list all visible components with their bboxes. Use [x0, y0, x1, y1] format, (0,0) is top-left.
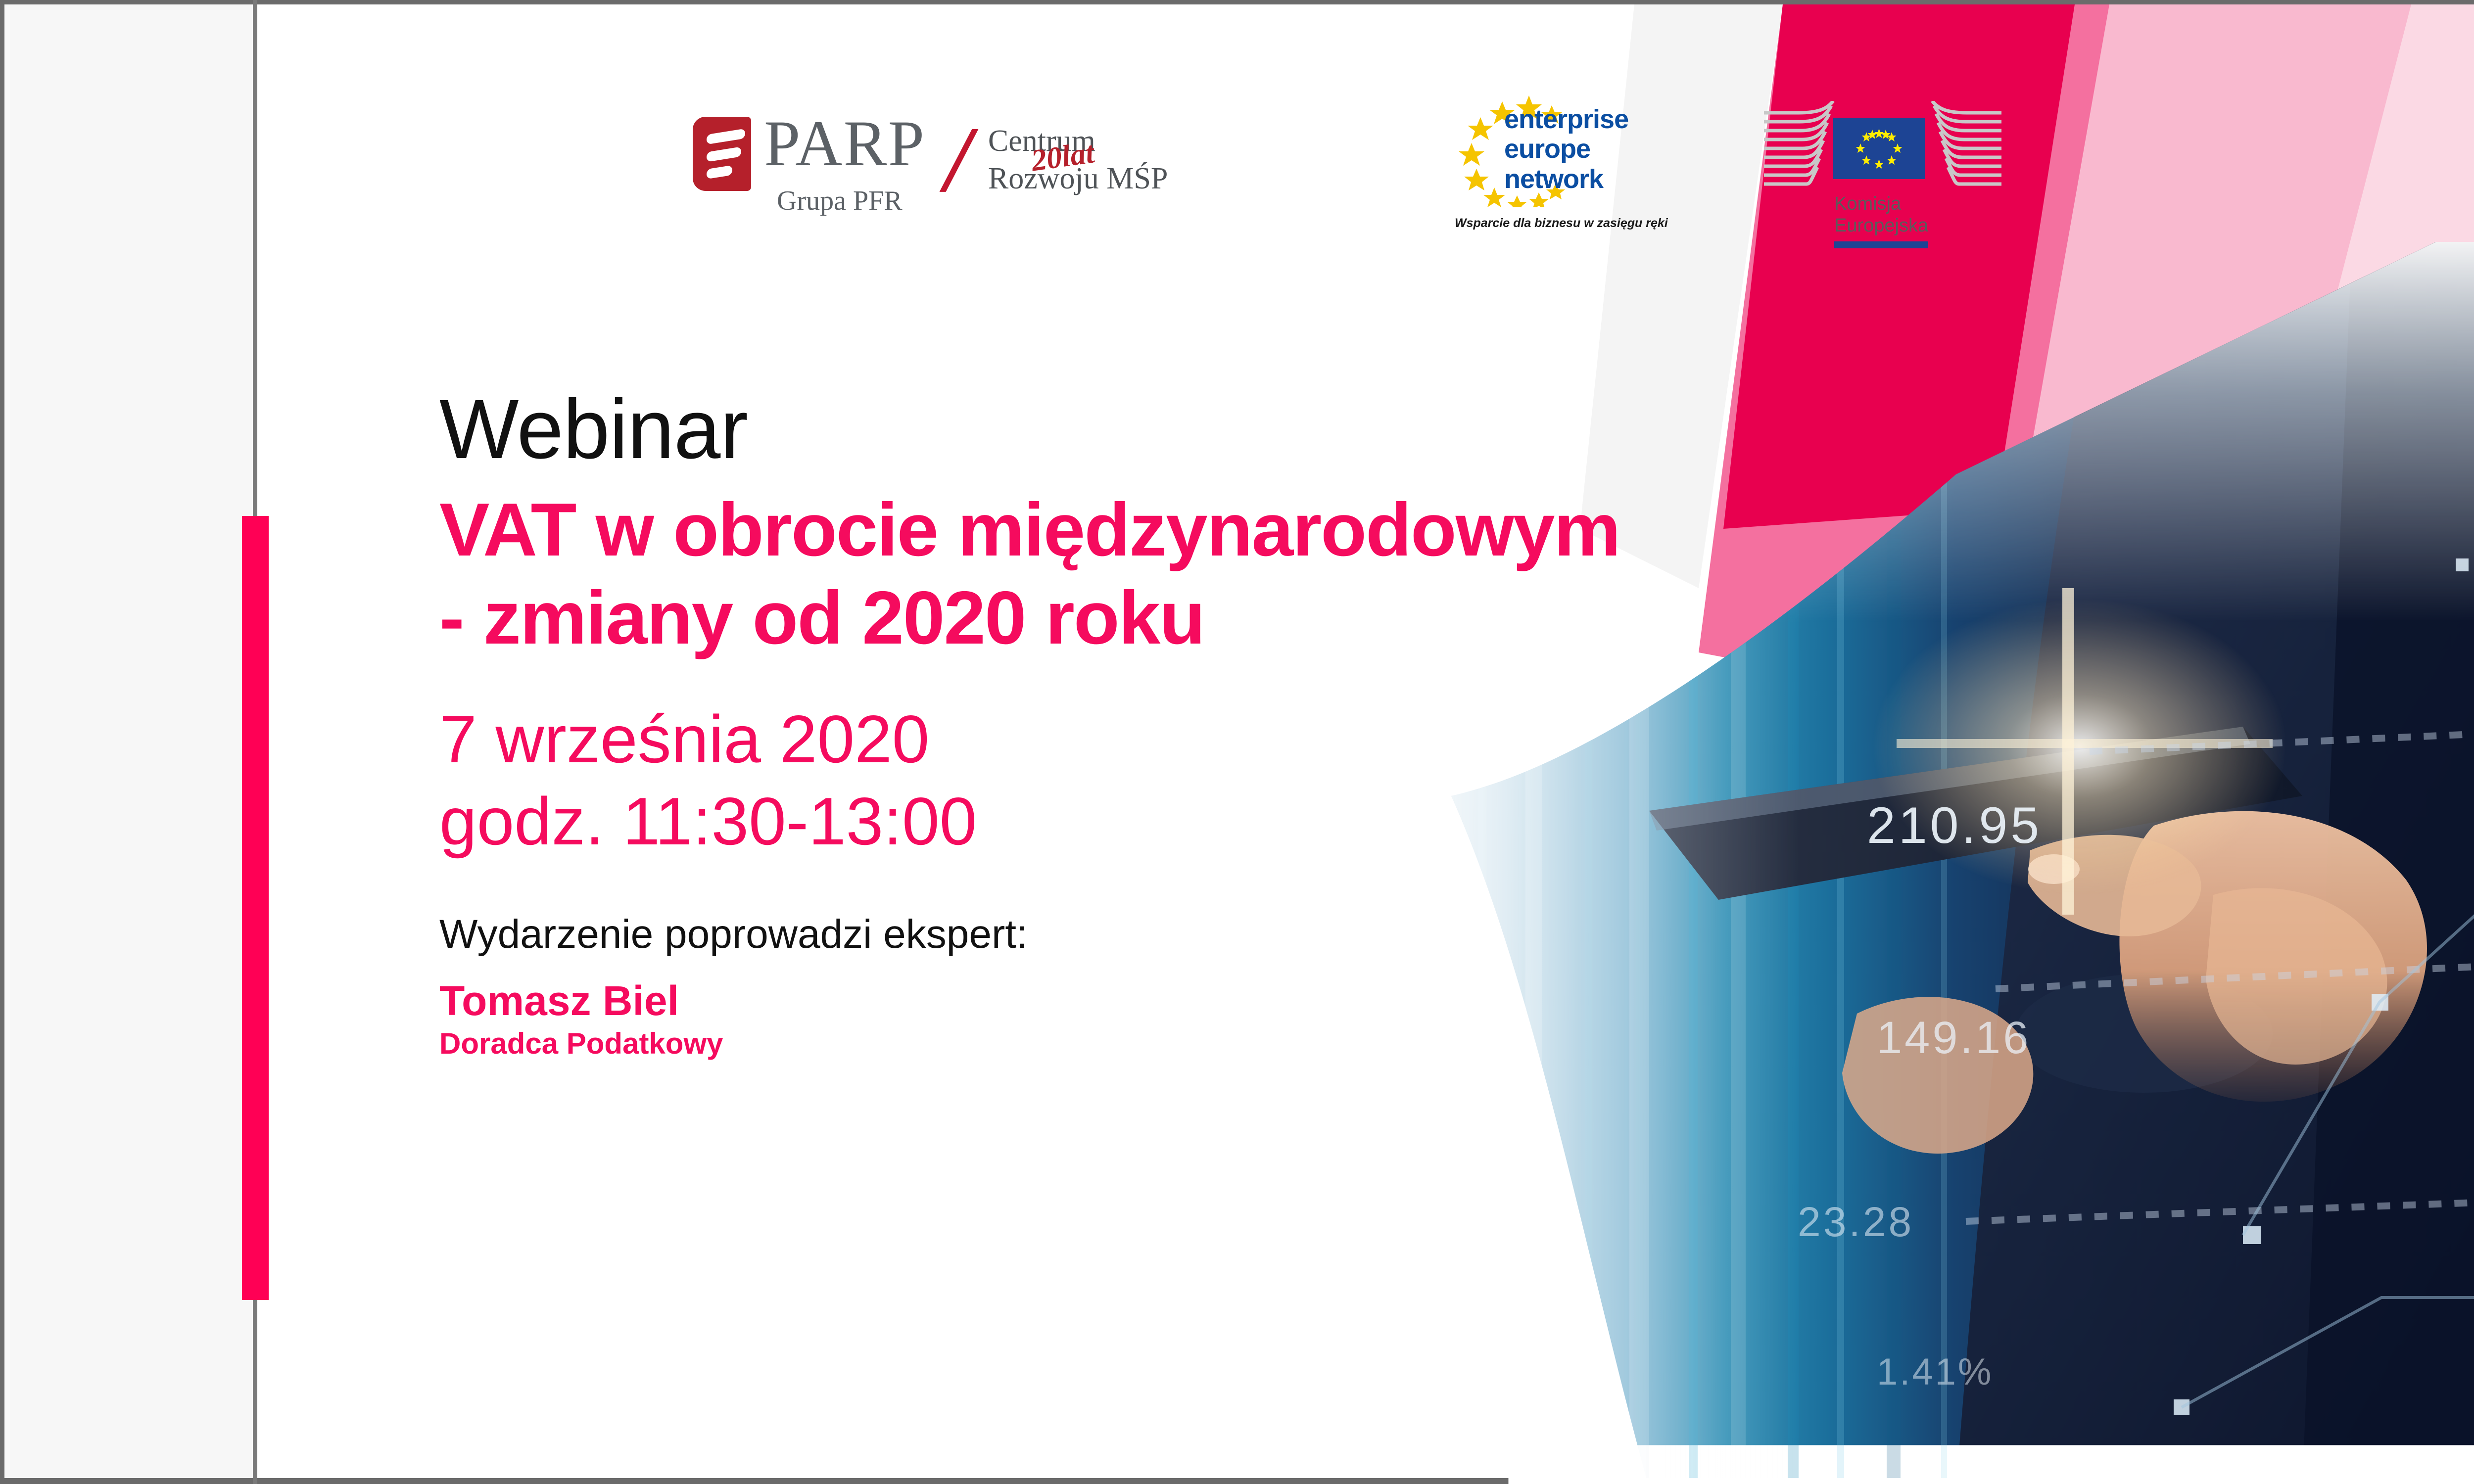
- parp-mark-wave-3: [707, 165, 732, 179]
- frame-top-border: [0, 0, 2474, 4]
- een-wordmark: enterprise europe network: [1504, 104, 1628, 194]
- eu-flag-stars: [1833, 118, 1925, 179]
- eu-flag-icon: [1833, 118, 1925, 179]
- ec-left-curve-lines-icon: [1764, 101, 1838, 187]
- event-type-label: Webinar: [439, 386, 1620, 473]
- ec-label-line-1: Komisja: [1834, 193, 2001, 215]
- enterprise-europe-network-logo[interactable]: enterprise europe network Wsparcie dla b…: [1455, 93, 1653, 231]
- speaker-name: Tomasz Biel: [439, 978, 1620, 1023]
- parp-mark-wave-2: [707, 146, 741, 162]
- ec-right-curve-lines-icon: [1927, 101, 2001, 187]
- parp-wordmark: PARP: [764, 111, 925, 176]
- webinar-poster: 210.95 149.16 23.28 1.41% 25 22: [0, 0, 2474, 1484]
- een-word-network: network: [1504, 164, 1628, 194]
- logo-row: PARP 20lat Grupa PFR / Centrum Rozwoju M…: [693, 111, 1168, 274]
- left-side-panel: [4, 4, 253, 1478]
- host-intro-label: Wydarzenie poprowadzi ekspert:: [439, 912, 1620, 957]
- poster-text-block: Webinar VAT w obrocie międzynarodowym - …: [439, 386, 1620, 1060]
- frame-bottom-border: [0, 1478, 2474, 1484]
- event-title-line-2: - zmiany od 2020 roku: [439, 574, 1620, 662]
- event-datetime: 7 września 2020 godz. 11:30-13:00: [439, 698, 1620, 863]
- een-word-europe: europe: [1504, 134, 1628, 164]
- pink-accent-bar: [242, 516, 269, 1300]
- parp-mark-wave-1: [707, 129, 745, 144]
- parp-subtitle: Grupa PFR: [777, 185, 925, 217]
- frame-left-border: [0, 0, 4, 1484]
- parp-logo[interactable]: PARP 20lat Grupa PFR: [693, 111, 925, 217]
- european-commission-logo[interactable]: Komisja Europejska: [1764, 101, 2001, 248]
- event-title: VAT w obrocie międzynarodowym - zmiany o…: [439, 486, 1620, 662]
- een-word-enterprise: enterprise: [1504, 104, 1628, 134]
- speaker-role: Doradca Podatkowy: [439, 1027, 1620, 1060]
- event-title-line-1: VAT w obrocie międzynarodowym: [439, 486, 1620, 574]
- event-date: 7 września 2020: [439, 698, 1620, 781]
- een-tagline: Wsparcie dla biznesu w zasięgu ręki: [1455, 216, 1653, 231]
- logo-divider-slash: /: [945, 118, 971, 202]
- ec-label: Komisja Europejska: [1834, 193, 2001, 236]
- ec-label-line-2: Europejska: [1834, 215, 2001, 236]
- event-time: godz. 11:30-13:00: [439, 781, 1620, 863]
- ec-underline-rule: [1834, 241, 1928, 248]
- parp-logo-mark: [693, 117, 751, 191]
